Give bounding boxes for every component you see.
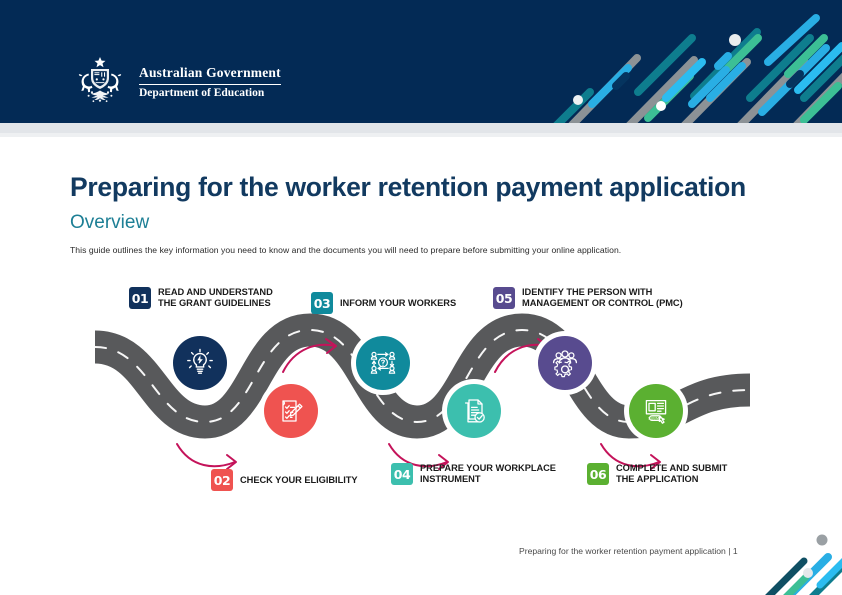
step-label-03[interactable]: 03 INFORM YOUR WORKERS <box>311 292 456 314</box>
branding-divider <box>139 84 281 85</box>
step-badge-05: 05 <box>493 287 515 309</box>
step-label-04[interactable]: 04 PREPARE YOUR WORKPLACE INSTRUMENT <box>391 463 556 485</box>
people-gear-management-icon <box>548 346 582 380</box>
government-branding: Australian Government Department of Educ… <box>70 56 281 108</box>
node-disc <box>264 384 318 438</box>
page-intro-text: This guide outlines the key information … <box>70 245 621 255</box>
node-disc: SUBMIT <box>629 384 683 438</box>
roadmap-node-03[interactable] <box>356 336 410 390</box>
node-disc <box>356 336 410 390</box>
step-label-02[interactable]: 02 CHECK YOUR ELIGIBILITY <box>211 469 358 491</box>
step-label-05[interactable]: 05 IDENTIFY THE PERSON WITH MANAGEMENT O… <box>493 287 683 309</box>
node-disc <box>173 336 227 390</box>
header-stripes-decoration <box>542 0 842 123</box>
checklist-pen-icon <box>275 395 307 427</box>
step-label-06[interactable]: 06 COMPLETE AND SUBMIT THE APPLICATION <box>587 463 727 485</box>
header-grey-band <box>0 123 842 133</box>
roadmap-node-05[interactable] <box>538 336 592 390</box>
step-label-01[interactable]: 01 READ AND UNDERSTAND THE GRANT GUIDELI… <box>129 287 273 309</box>
page-subtitle: Overview <box>70 212 149 234</box>
step-title-01: READ AND UNDERSTAND THE GRANT GUIDELINES <box>158 287 273 309</box>
header-grey-band-light <box>0 133 842 137</box>
page-header: Australian Government Department of Educ… <box>0 0 842 123</box>
org-name-line1: Australian Government <box>139 65 281 81</box>
node-disc <box>447 384 501 438</box>
documents-check-icon <box>458 395 490 427</box>
step-badge-01: 01 <box>129 287 151 309</box>
roadmap-graphic: SUBMIT 01 READ AND UNDERSTAND THE GRANT … <box>0 272 842 512</box>
step-title-02: CHECK YOUR ELIGIBILITY <box>240 475 358 486</box>
step-badge-06: 06 <box>587 463 609 485</box>
australian-coat-of-arms-icon <box>70 56 130 108</box>
step-badge-04: 04 <box>391 463 413 485</box>
roadmap-node-06[interactable]: SUBMIT <box>629 384 683 438</box>
step-title-05: IDENTIFY THE PERSON WITH MANAGEMENT OR C… <box>522 287 683 309</box>
step-title-03: INFORM YOUR WORKERS <box>340 298 456 309</box>
footer-text: Preparing for the worker retention payme… <box>519 546 738 556</box>
node-disc <box>538 336 592 390</box>
page-title: Preparing for the worker retention payme… <box>70 172 746 203</box>
roadmap-node-02[interactable] <box>264 384 318 438</box>
step-title-04: PREPARE YOUR WORKPLACE INSTRUMENT <box>420 463 556 485</box>
step-badge-02: 02 <box>211 469 233 491</box>
roadmap-node-01[interactable] <box>173 336 227 390</box>
footer-stripes-decoration <box>722 525 842 595</box>
lightbulb-idea-icon <box>183 346 217 380</box>
form-submit-cursor-icon: SUBMIT <box>640 395 672 427</box>
roadmap-node-04[interactable] <box>447 384 501 438</box>
org-name-line2: Department of Education <box>139 87 281 99</box>
people-network-communication-icon <box>366 346 400 380</box>
step-badge-03: 03 <box>311 292 333 314</box>
step-title-06: COMPLETE AND SUBMIT THE APPLICATION <box>616 463 727 485</box>
